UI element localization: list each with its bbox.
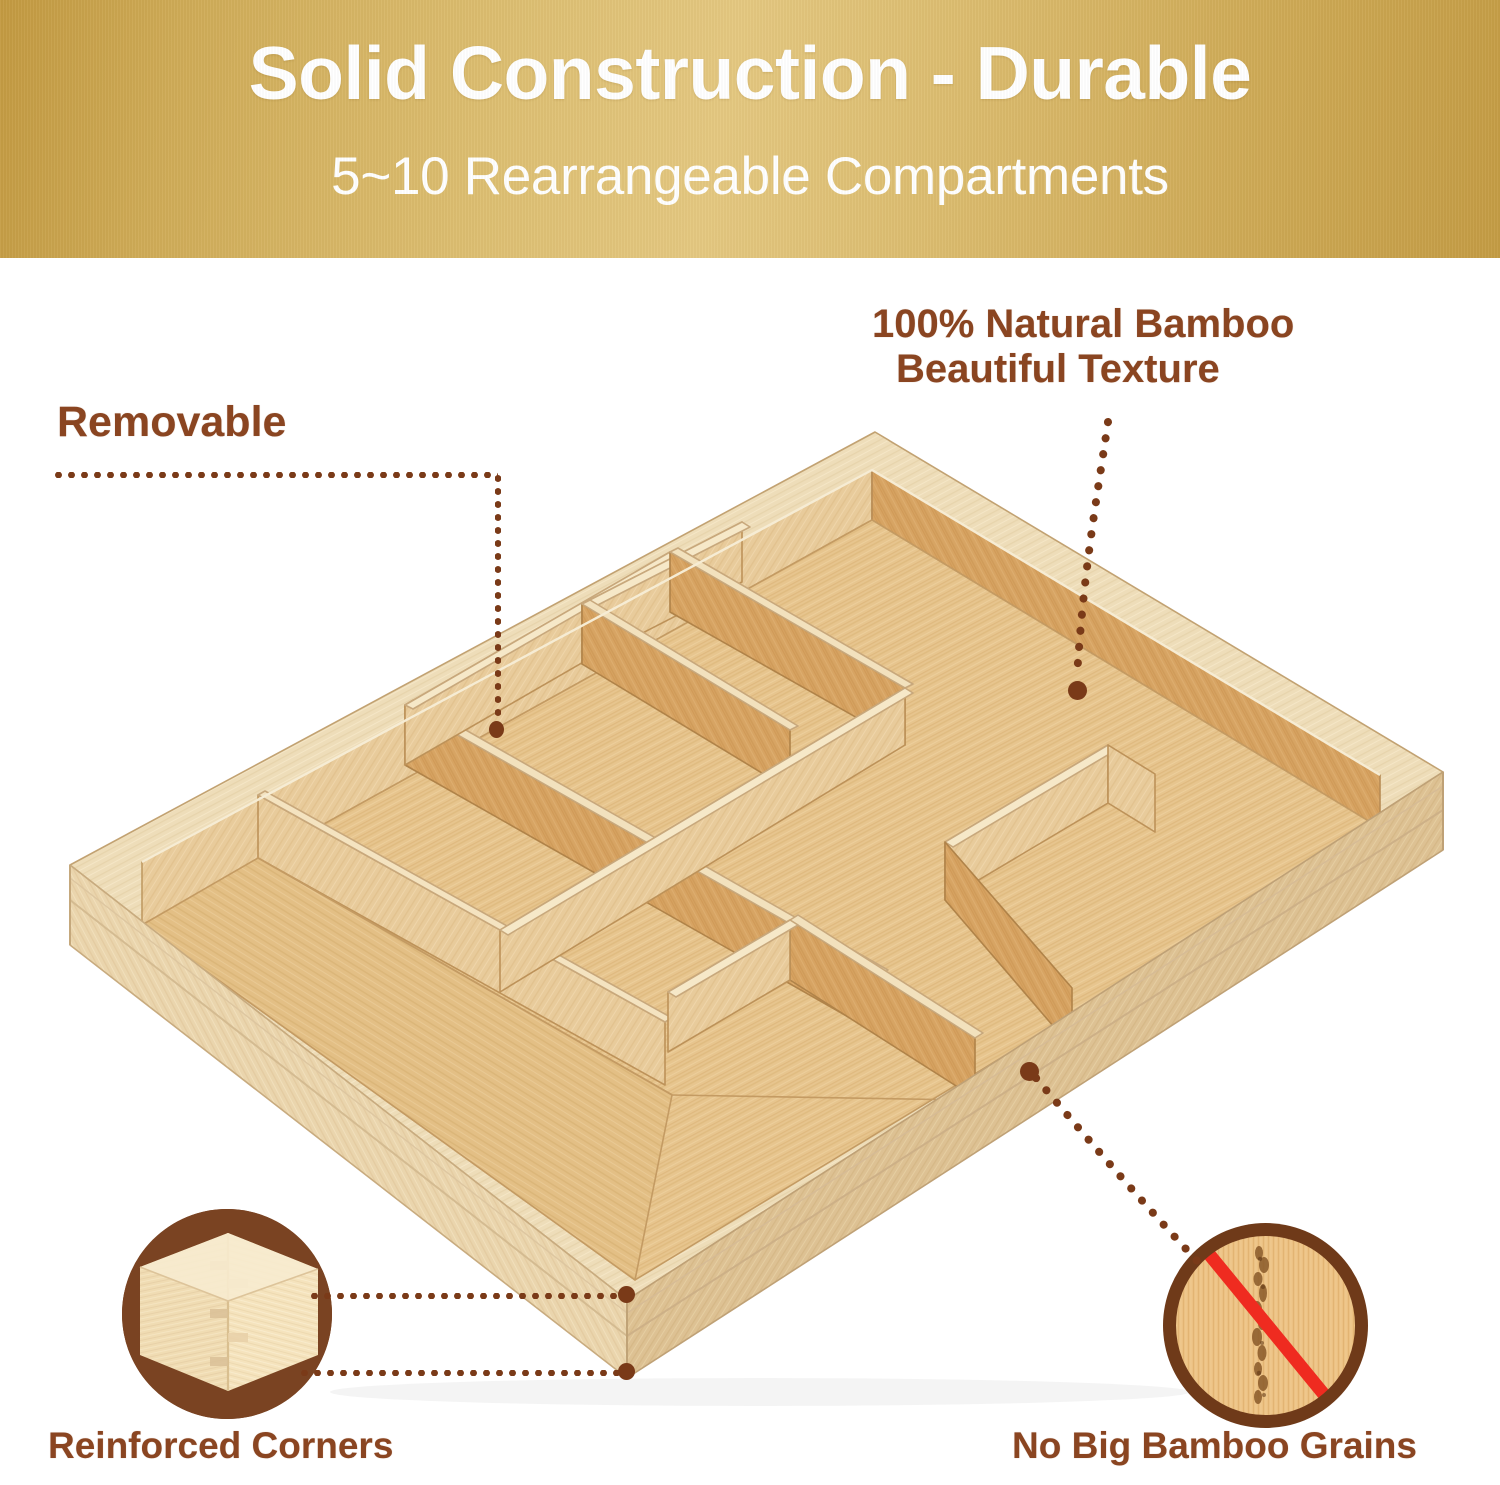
connector-removable-horizontal	[52, 472, 498, 478]
connector-dot-no-big-grains	[1020, 1062, 1039, 1081]
callout-natural-bamboo-line1: 100% Natural Bamboo	[872, 302, 1294, 346]
product-infographic: Solid Construction - Durable 5~10 Rearra…	[0, 0, 1500, 1485]
callout-reinforced-corners-label: Reinforced Corners	[48, 1425, 393, 1466]
connector-corner-bottom	[298, 1370, 620, 1376]
connector-corner-top	[308, 1293, 620, 1299]
callout-no-big-bamboo-grains: No Big Bamboo Grains	[1012, 1425, 1417, 1466]
callout-no-big-bamboo-grains-label: No Big Bamboo Grains	[1012, 1425, 1417, 1466]
connector-dot-removable	[489, 721, 504, 738]
callout-removable: Removable	[57, 398, 286, 446]
callout-natural-bamboo: 100% Natural Bamboo Beautiful Texture	[872, 302, 1294, 392]
connector-removable-vertical	[495, 472, 501, 730]
detail-photo-reinforced-corner	[122, 1209, 332, 1419]
connector-natural-bamboo	[1060, 418, 1140, 708]
callout-reinforced-corners: Reinforced Corners	[48, 1425, 393, 1466]
connector-no-big-grains	[1028, 1068, 1248, 1278]
callout-removable-label: Removable	[57, 398, 286, 446]
connector-dot-natural-bamboo	[1068, 681, 1087, 700]
callout-natural-bamboo-line2: Beautiful Texture	[872, 347, 1294, 392]
connector-dot-corner-bottom	[618, 1363, 635, 1380]
connector-dot-corner-top	[618, 1286, 635, 1303]
